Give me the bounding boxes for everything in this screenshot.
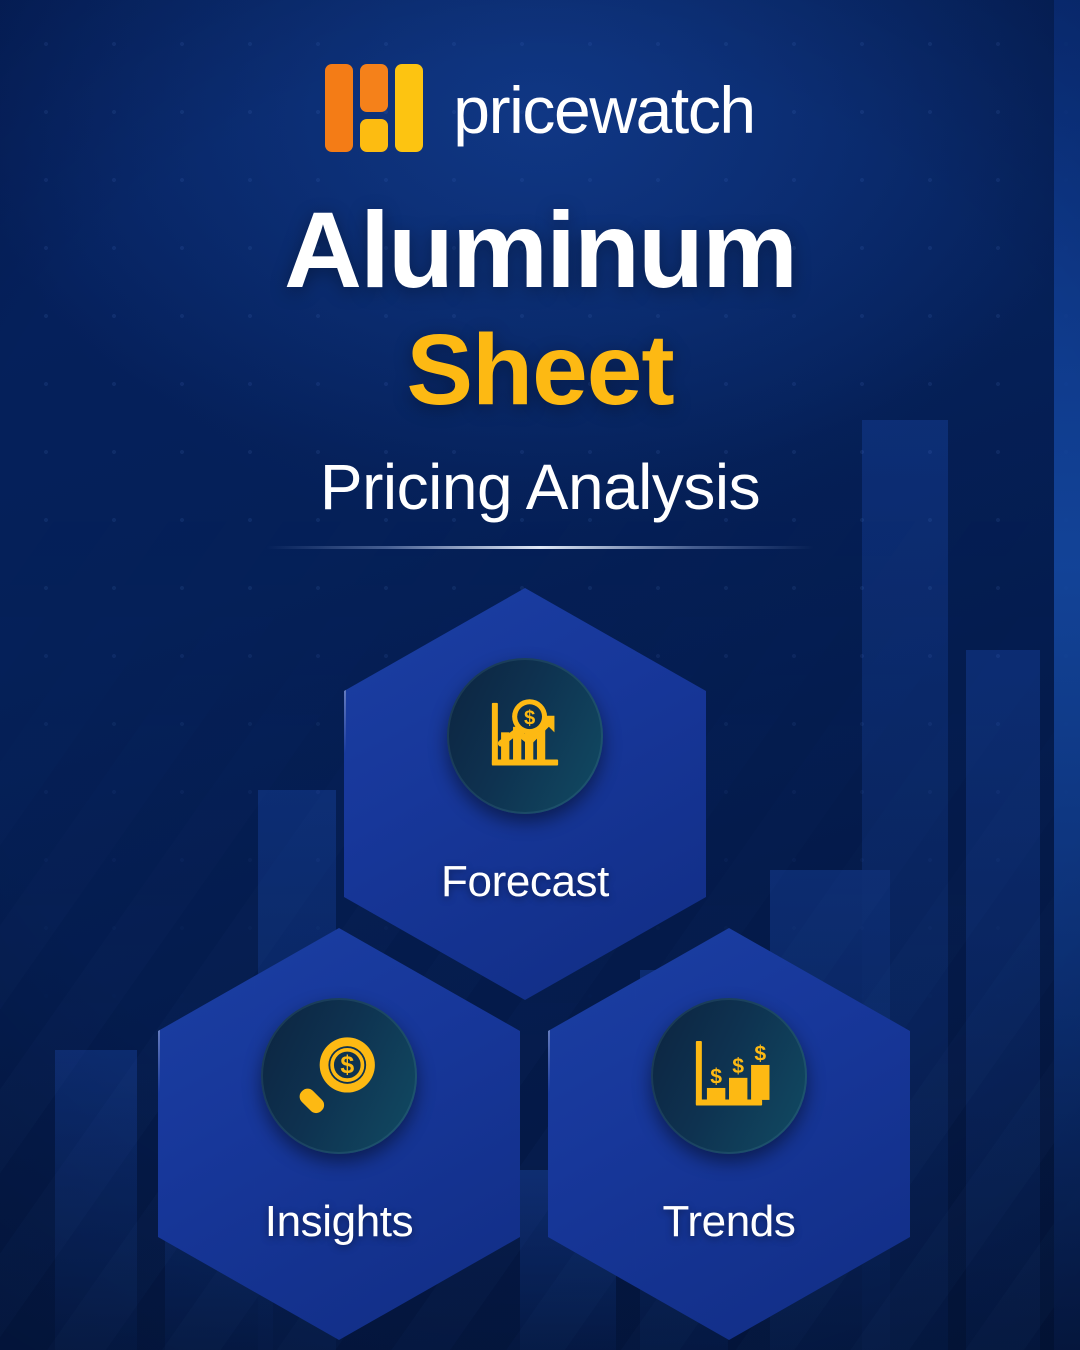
feature-label-forecast: Forecast <box>441 860 609 904</box>
feature-label-insights: Insights <box>265 1200 413 1244</box>
ascending-bars-dollar-icon: $ $ $ <box>683 1030 775 1122</box>
feature-card-trends[interactable]: $ $ $ Trends <box>548 928 910 1340</box>
insights-icon-badge: $ <box>261 998 417 1154</box>
feature-label-trends: Trends <box>663 1200 796 1244</box>
svg-text:$: $ <box>754 1042 766 1065</box>
feature-hexagon-group: $ Forecast <box>0 0 1080 1350</box>
svg-text:$: $ <box>340 1052 354 1079</box>
feature-card-insights[interactable]: $ Insights <box>158 928 520 1340</box>
poster-content: pricewatch Aluminum Sheet Pricing Analys… <box>0 0 1080 1350</box>
trends-icon-badge: $ $ $ <box>651 998 807 1154</box>
bar-chart-growth-arrow-dollar-icon: $ <box>479 690 571 782</box>
magnifier-dollar-icon: $ <box>293 1030 385 1122</box>
svg-text:$: $ <box>710 1065 722 1088</box>
forecast-icon-badge: $ <box>447 658 603 814</box>
svg-text:$: $ <box>524 708 535 730</box>
svg-text:$: $ <box>732 1055 744 1078</box>
